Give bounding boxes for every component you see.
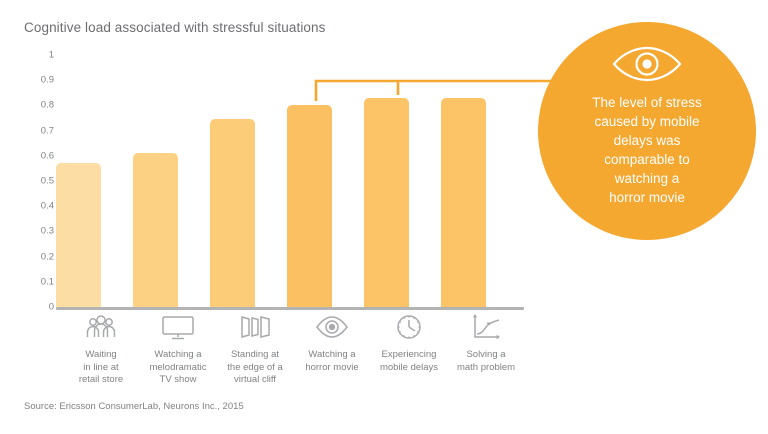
y-axis-tick: 0 (49, 302, 54, 313)
bar-series (56, 55, 524, 307)
eye-icon (611, 46, 683, 87)
rising-curve-graph-icon (438, 312, 534, 342)
y-axis-tick: 0.2 (41, 251, 54, 262)
bar[interactable] (287, 105, 332, 307)
category-tick-6: Solving a math problem (438, 312, 534, 374)
source-note: Source: Ericsson ConsumerLab, Neurons In… (24, 401, 244, 412)
y-axis: 10.90.80.70.60.50.40.30.20.10 (26, 55, 54, 315)
callout-text: The level of stress caused by mobile del… (566, 93, 728, 207)
callout-bubble: The level of stress caused by mobile del… (538, 22, 756, 240)
y-axis-tick: 0.3 (41, 226, 54, 237)
y-axis-tick: 0.4 (41, 201, 54, 212)
bar[interactable] (210, 119, 255, 307)
y-axis-tick: 0.5 (41, 176, 54, 187)
y-axis-tick: 0.1 (41, 276, 54, 287)
y-axis-tick: 0.7 (41, 125, 54, 136)
bar[interactable] (364, 98, 409, 307)
x-axis-baseline (56, 307, 524, 310)
y-axis-tick: 0.8 (41, 100, 54, 111)
y-axis-tick: 0.9 (41, 75, 54, 86)
bar[interactable] (56, 163, 101, 307)
y-axis-tick: 1 (49, 50, 54, 61)
category-label: Solving a math problem (438, 349, 534, 374)
chart-root: Cognitive load associated with stressful… (0, 0, 768, 434)
category-axis: Waiting in line at retail storeWatching … (56, 312, 524, 402)
bar[interactable] (133, 153, 178, 307)
bar[interactable] (441, 98, 486, 307)
y-axis-tick: 0.6 (41, 150, 54, 161)
